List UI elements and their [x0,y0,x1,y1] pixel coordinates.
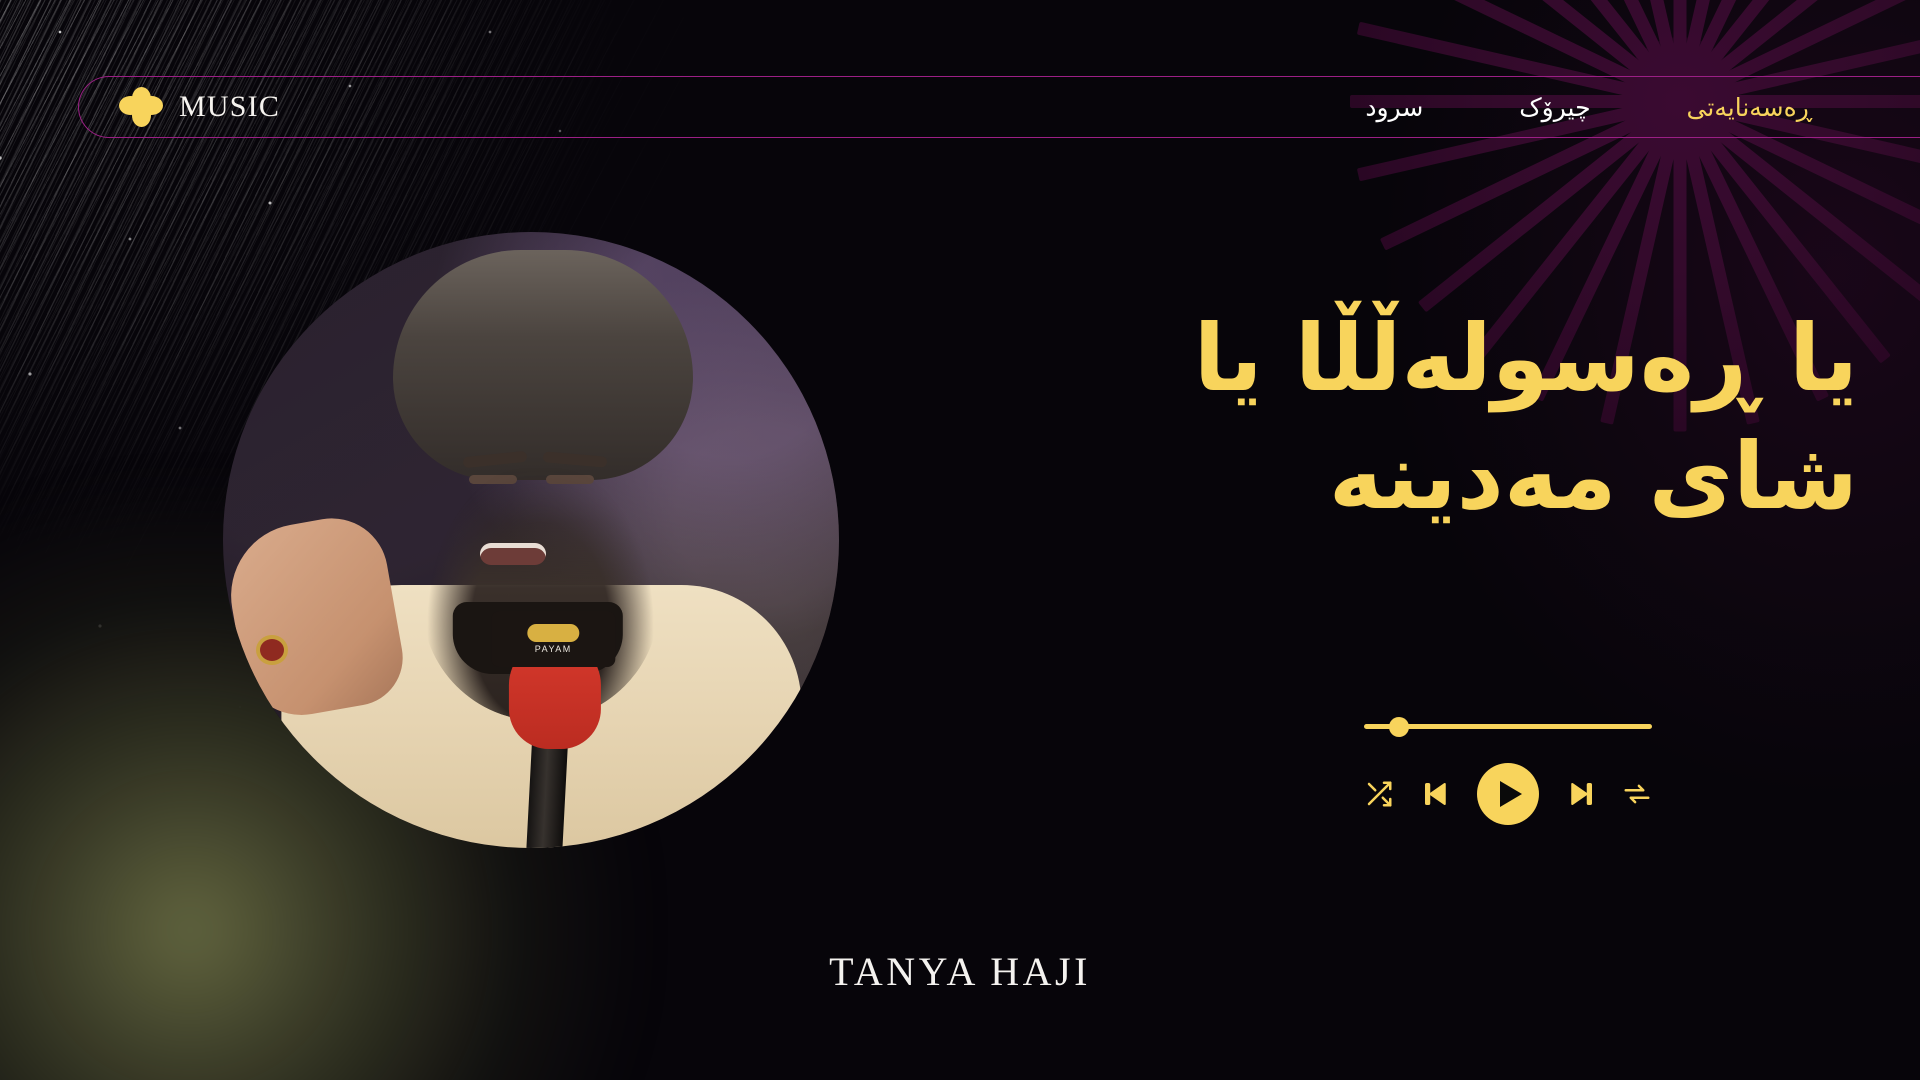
progress-handle[interactable] [1389,717,1409,737]
mic-brand-label: PAYAM [535,644,572,654]
play-icon[interactable] [1477,763,1539,825]
brand[interactable]: MUSIC [79,87,280,127]
microphone-badge: PAYAM [491,611,615,667]
nav-item-resenayeti[interactable]: ڕەسەنایەتی [1687,93,1812,122]
track-title-line-1: یا ڕەسولەڵڵا یا [1098,300,1858,418]
track-info: یا ڕەسولەڵڵا یا شای مەدینە [1098,300,1858,536]
brand-name: MUSIC [179,90,280,124]
portrait-photo: PAYAM [223,232,839,848]
repeat-icon[interactable] [1622,779,1652,809]
shuffle-icon[interactable] [1364,779,1394,809]
navbar: MUSIC ڕەسەنایەتی چیرۆک سرود [78,76,1920,138]
track-title-line-2: شای مەدینە [1098,418,1858,536]
previous-track-icon[interactable] [1421,779,1451,809]
nav-links: ڕەسەنایەتی چیرۆک سرود [1365,93,1920,122]
progress-bar[interactable] [1364,724,1652,729]
audio-player [1364,724,1652,825]
next-track-icon[interactable] [1566,779,1596,809]
nav-item-chirok[interactable]: چیرۆک [1519,93,1590,122]
flower-icon [121,87,161,127]
artist-portrait: PAYAM [223,232,839,848]
artist-name: TANYA HAJI [0,948,1920,995]
player-controls [1364,763,1652,825]
nav-item-srud[interactable]: سرود [1365,93,1423,122]
